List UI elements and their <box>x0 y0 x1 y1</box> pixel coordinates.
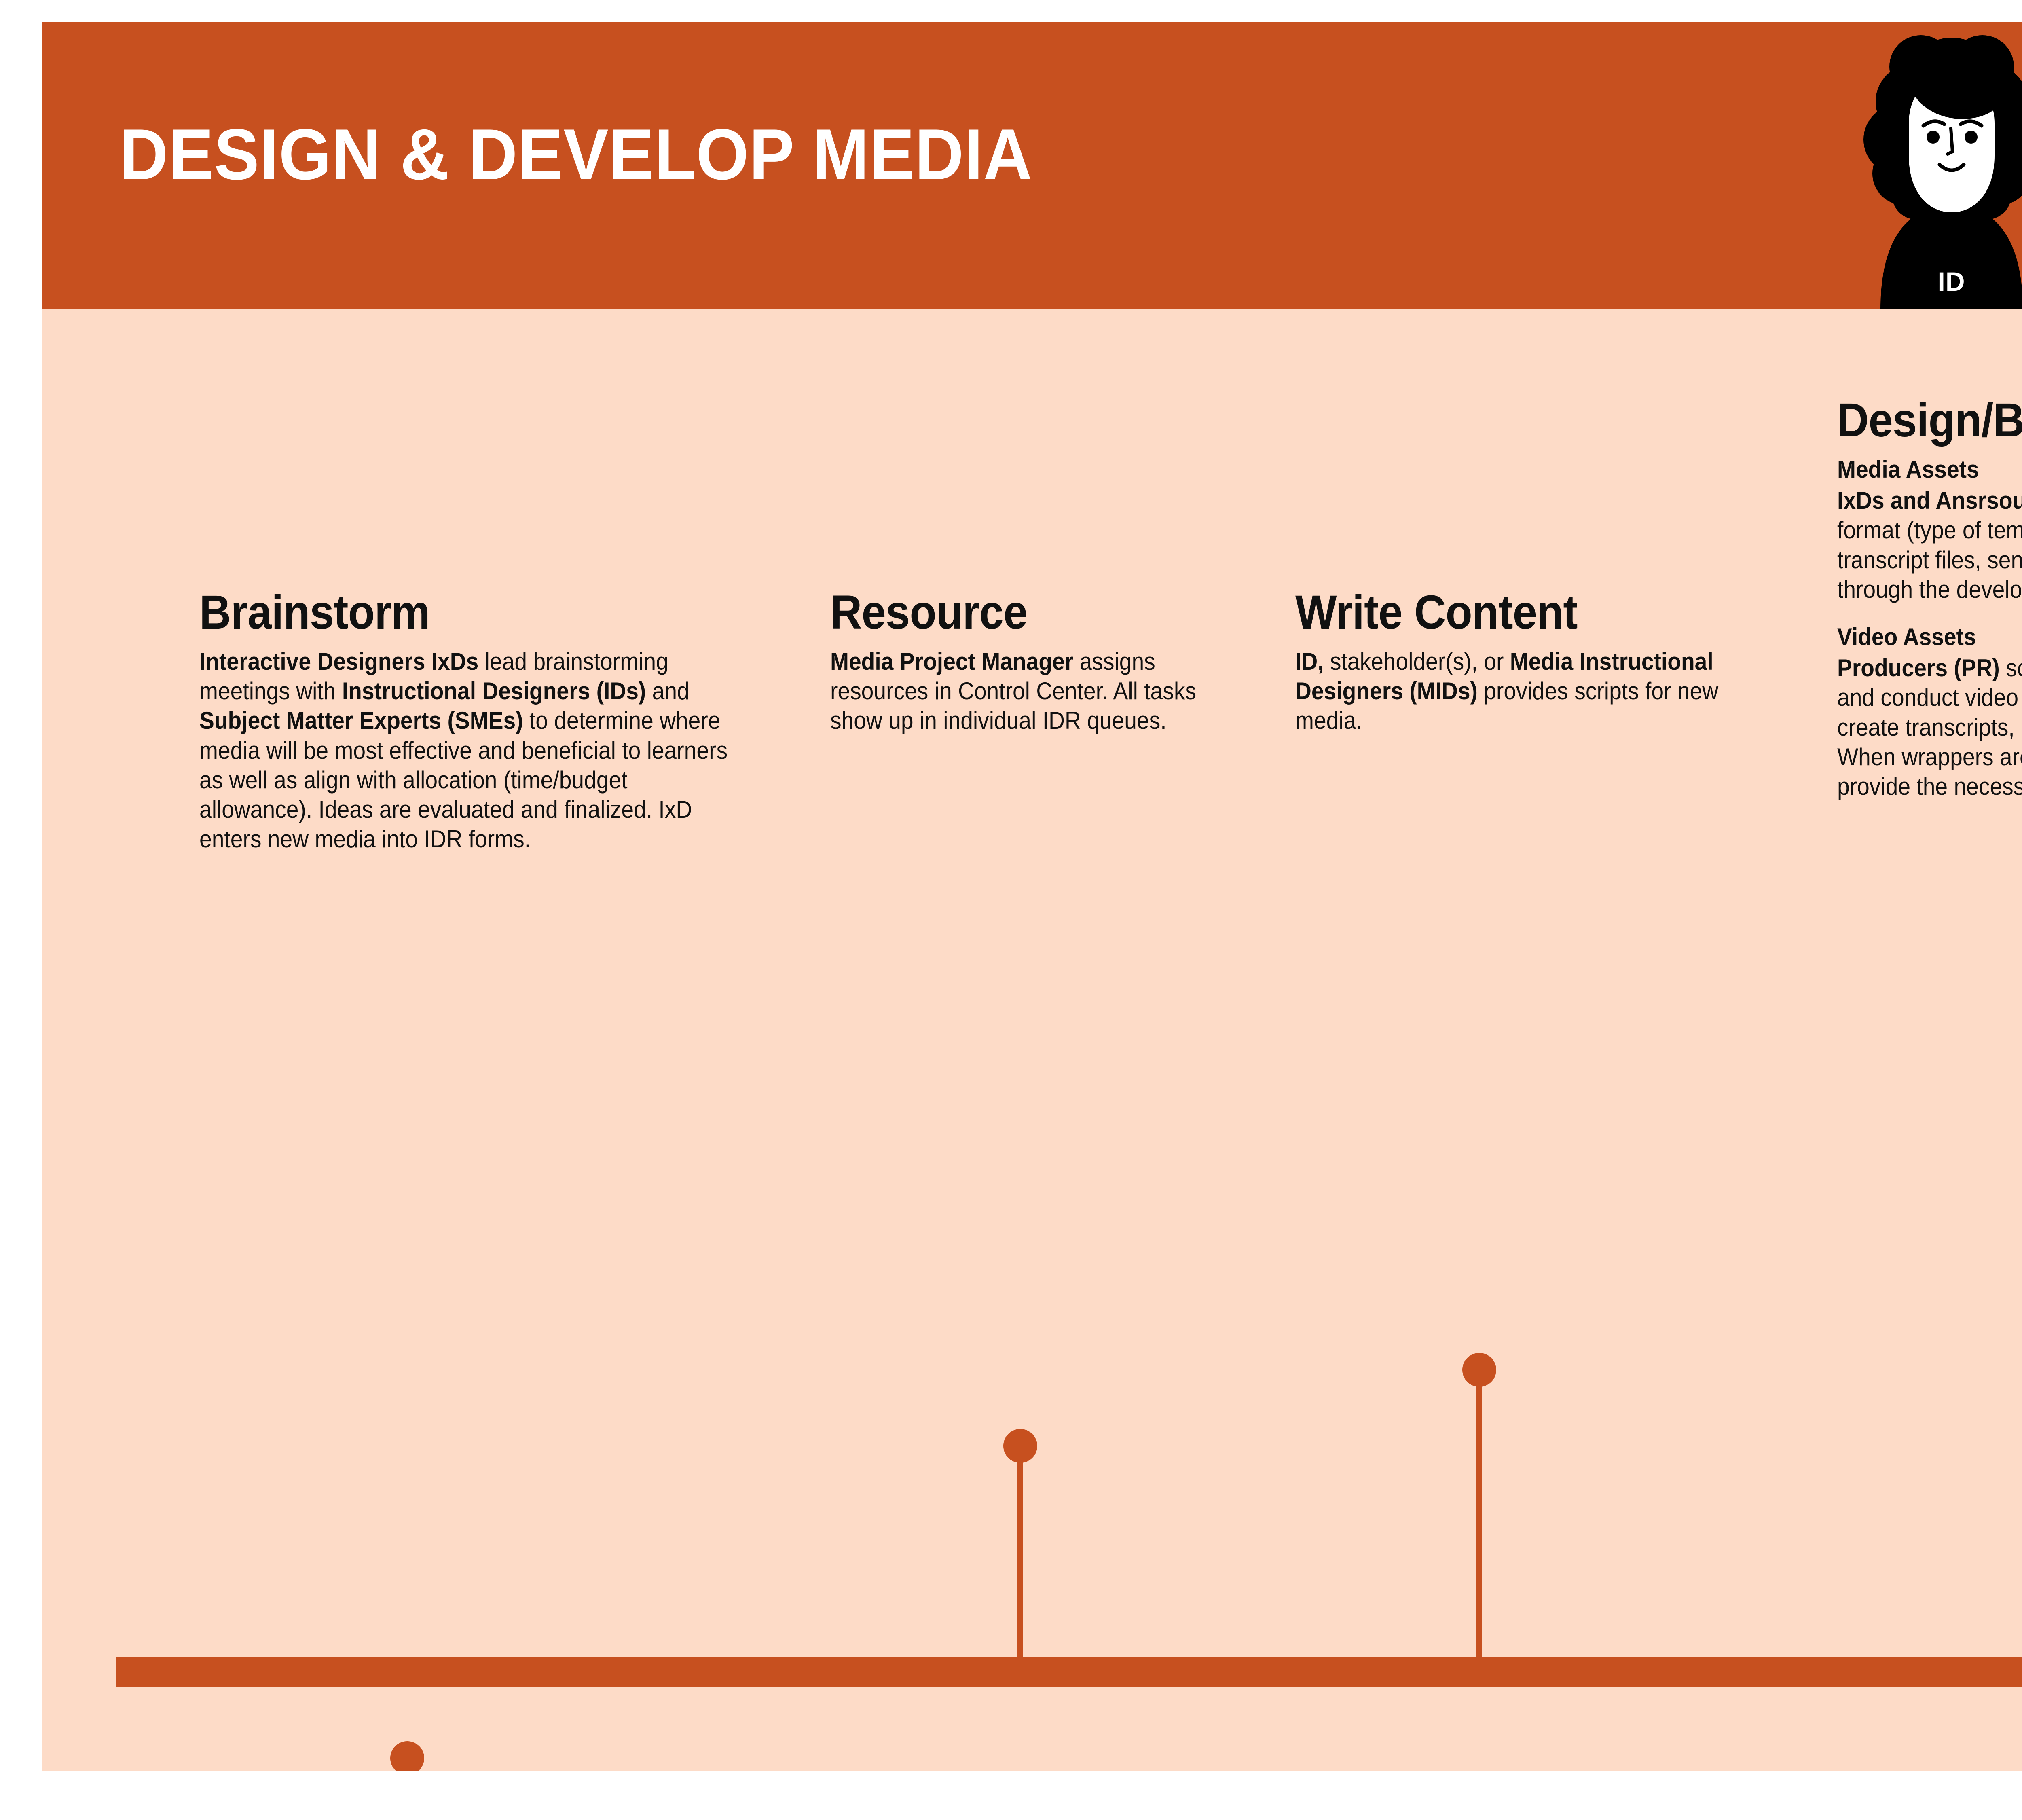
stage-body-video-assets: Producers (PR) schedule talent, book equ… <box>1837 653 2022 801</box>
marker-stem-write-content <box>1476 1370 1482 1659</box>
marker-dot-resource <box>1003 1429 1037 1463</box>
stage-resource: Resource Media Project Manager assigns r… <box>830 588 1283 736</box>
avatar-id: ID <box>1856 22 2022 309</box>
stage-body: Media Project Manager assigns resources … <box>830 647 1247 736</box>
stage-heading: Design/Build/Shoot <box>1837 396 2022 444</box>
marker-dot-brainstorm <box>390 1741 424 1771</box>
stage-write-content: Write Content ID, stakeholder(s), or Med… <box>1295 588 1793 736</box>
stage-heading: Write Content <box>1295 588 1753 636</box>
infographic-canvas: DESIGN & DEVELOP MEDIA <box>0 0 2022 1820</box>
timeline-panel: Brainstorm Interactive Designers IxDs le… <box>42 309 2022 1771</box>
stage-subheading-video-assets: Video Assets <box>1837 622 2022 652</box>
stage-heading: Brainstorm <box>199 588 728 636</box>
stage-brainstorm: Brainstorm Interactive Designers IxDs le… <box>199 588 774 854</box>
stage-heading: Resource <box>830 588 1247 636</box>
marker-dot-write-content <box>1462 1353 1496 1387</box>
timeline-bar <box>116 1657 2022 1687</box>
person-icon-id <box>1856 22 2022 309</box>
stage-body-media-assets: IxDs and Ansrsource create media repos, … <box>1837 486 2022 604</box>
avatar-row: ID <box>1856 22 2022 309</box>
stage-body: Interactive Designers IxDs lead brainsto… <box>199 647 728 854</box>
stage-subheading-media-assets: Media Assets <box>1837 455 2022 484</box>
page-title: DESIGN & DEVELOP MEDIA <box>119 119 1032 190</box>
header-band: DESIGN & DEVELOP MEDIA <box>42 22 2022 309</box>
stage-body: ID, stakeholder(s), or Media Instruction… <box>1295 647 1753 736</box>
stage-design-build-shoot: Design/Build/Shoot Media Assets IxDs and… <box>1837 396 2022 801</box>
marker-stem-resource <box>1017 1446 1023 1659</box>
